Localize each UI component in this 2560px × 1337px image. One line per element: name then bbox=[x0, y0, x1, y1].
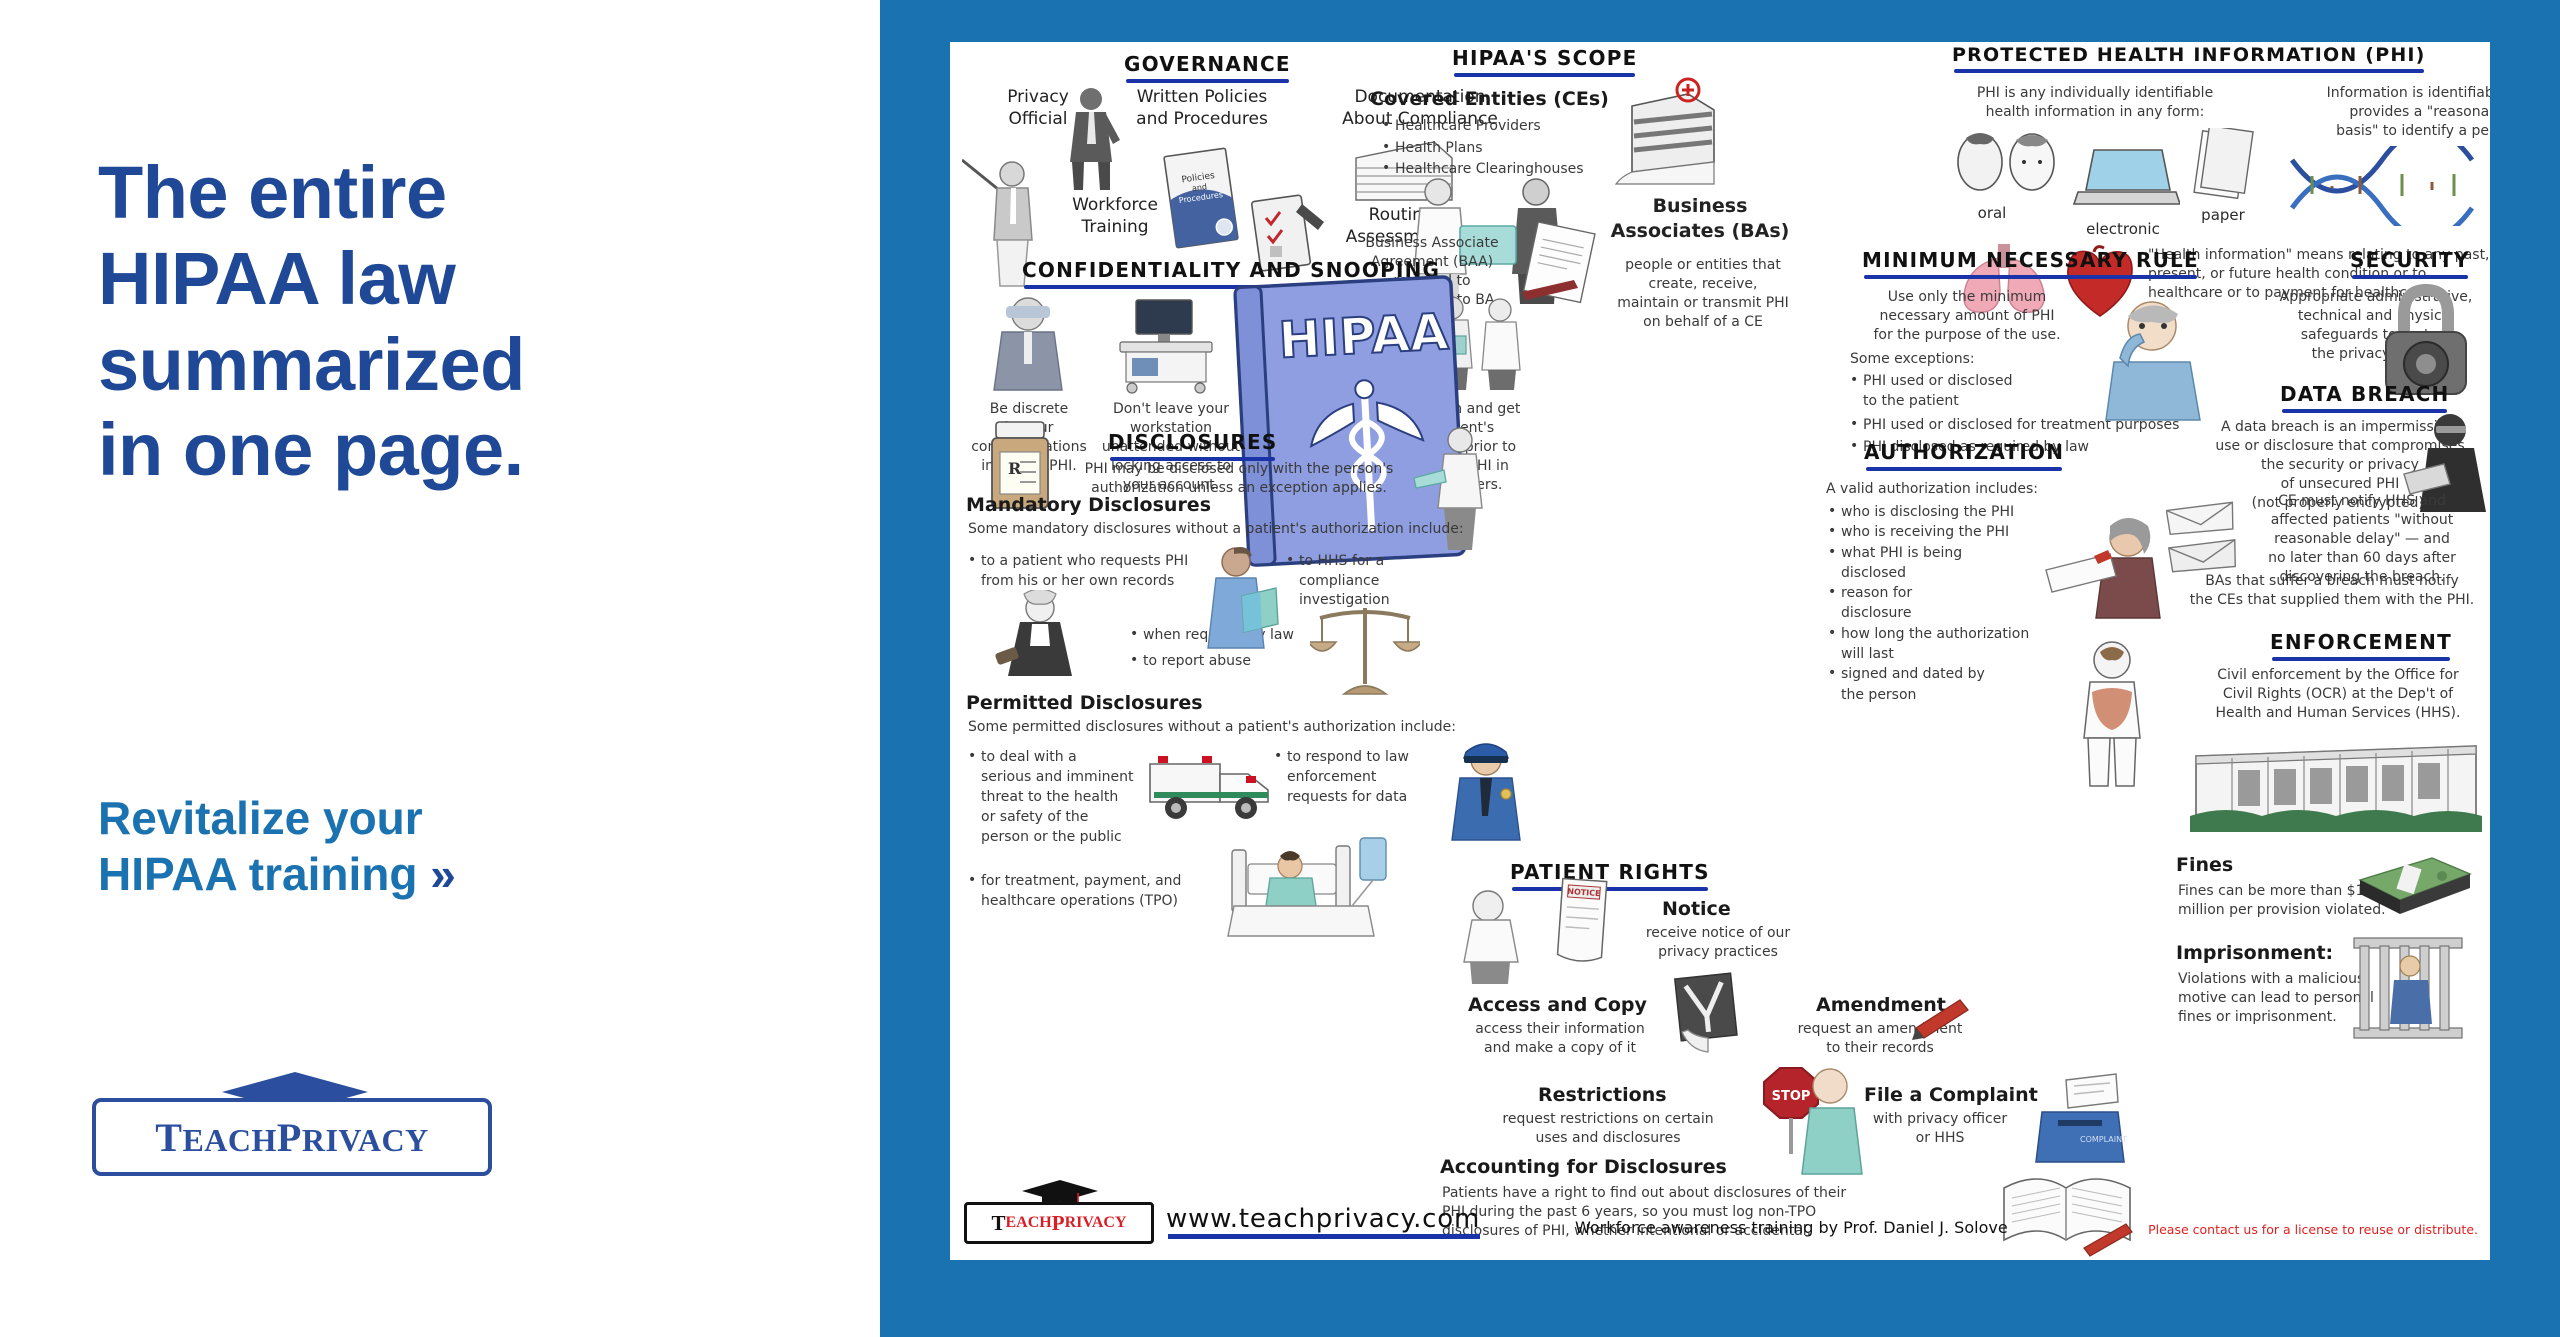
chevron-right-icon: » bbox=[430, 848, 450, 900]
permitted-list-right: to respond to law enforcement requests f… bbox=[1274, 748, 1464, 808]
label-electronic: electronic bbox=[2068, 220, 2178, 240]
list-item: to respond to law enforcement requests f… bbox=[1274, 748, 1464, 808]
headline-emphasis: entire bbox=[248, 151, 447, 234]
money-stack-illustration bbox=[2354, 852, 2474, 924]
body-anatomy-illustration bbox=[2064, 638, 2160, 788]
page-root: The entire HIPAA law summarized in one p… bbox=[0, 0, 2560, 1337]
section-title-hipaa-scope: HIPAA'S SCOPE bbox=[1452, 46, 1637, 74]
patient-with-folder-illustration bbox=[1194, 544, 1284, 650]
footer-website-url[interactable]: www.teachprivacy.com bbox=[1166, 1204, 1480, 1234]
footer-logo-each: EACH bbox=[1006, 1214, 1052, 1232]
stop-sign-text: STOP bbox=[1772, 1089, 1811, 1104]
logo-wordmark: TEACHPRIVACY bbox=[155, 1114, 428, 1161]
data-breach-bas: BAs that suffer a breach must notify the… bbox=[2182, 572, 2482, 610]
teachprivacy-logo[interactable]: TEACHPRIVACY bbox=[92, 1070, 502, 1180]
right-access-copy-desc: access their information and make a copy… bbox=[1450, 1020, 1670, 1058]
ambulance-illustration bbox=[1146, 746, 1278, 822]
section-title-data-breach: DATA BREACH bbox=[2280, 382, 2449, 410]
cta-line-2: HIPAA training bbox=[98, 848, 417, 900]
right-access-copy-name: Access and Copy bbox=[1468, 994, 1647, 1016]
open-ledger-book-illustration bbox=[1998, 1164, 2138, 1258]
section-title-disclosures: DISCLOSURES bbox=[1108, 430, 1277, 458]
envelopes-illustration bbox=[2166, 494, 2256, 584]
police-officer-illustration bbox=[1440, 732, 1532, 842]
phi-intro: PHI is any individually identifiable hea… bbox=[1930, 84, 2260, 122]
list-item: PHI used or disclosed to the patient bbox=[1850, 372, 2080, 411]
svg-text:COMPLAINT: COMPLAINT bbox=[2080, 1135, 2127, 1144]
footer-teachprivacy-logo[interactable]: TEACHPRIVACY bbox=[964, 1202, 1154, 1244]
judge-gavel-illustration bbox=[990, 590, 1090, 678]
section-title-enforcement: ENFORCEMENT bbox=[2270, 630, 2452, 658]
list-item: signed and dated by the person bbox=[1828, 664, 2078, 705]
policies-book-illustration: Policies and Procedures bbox=[1156, 146, 1246, 250]
covered-entities-heading: Covered Entities (CEs) bbox=[1370, 88, 1609, 110]
imprisonment-heading: Imprisonment: bbox=[2176, 942, 2333, 964]
permitted-list-tpo: for treatment, payment, and healthcare o… bbox=[968, 872, 1228, 912]
minimum-necessary-body: Use only the minimum necessary amount of… bbox=[1842, 288, 2092, 345]
right-file-complaint-desc: with privacy officer or HHS bbox=[1840, 1110, 2040, 1148]
faces-oral-illustration bbox=[1950, 128, 2070, 198]
logo-each: EACH bbox=[182, 1122, 276, 1158]
list-item: Health Plans bbox=[1382, 138, 1612, 160]
xray-copy-illustration bbox=[1666, 972, 1746, 1058]
section-title-phi: PROTECTED HEALTH INFORMATION (PHI) bbox=[1952, 44, 2426, 70]
hospital-building-illustration bbox=[1610, 76, 1722, 188]
logo-rivacy: RIVACY bbox=[302, 1122, 429, 1158]
enforcement-body: Civil enforcement by the Office for Civi… bbox=[2188, 666, 2488, 723]
woman-signing-form-illustration bbox=[2036, 512, 2176, 622]
promo-headline: The entire HIPAA law summarized in one p… bbox=[98, 150, 798, 493]
headline-line-4: in one page. bbox=[98, 408, 524, 491]
right-notice-desc: receive notice of our privacy practices bbox=[1618, 924, 1818, 962]
svg-text:HIPAA: HIPAA bbox=[1277, 303, 1450, 370]
label-written-policies: Written Policies and Procedures bbox=[1102, 86, 1302, 130]
section-title-authorization: AUTHORIZATION bbox=[1864, 440, 2064, 468]
footer-logo-p: P bbox=[1052, 1211, 1065, 1236]
notice-document-illustration: NOTICE bbox=[1550, 874, 1614, 966]
discrete-man-illustration bbox=[980, 292, 1076, 392]
hipaa-infographic: GOVERNANCE Privacy Official Written Poli… bbox=[950, 42, 2490, 1260]
permitted-list-left: to deal with a serious and imminent thre… bbox=[968, 748, 1168, 847]
right-notice-name: Notice bbox=[1662, 898, 1731, 920]
logo-wordmark-box: TEACHPRIVACY bbox=[92, 1098, 492, 1176]
hospital-bed-patient-illustration bbox=[1218, 832, 1398, 950]
minimum-necessary-exceptions-heading: Some exceptions: bbox=[1850, 350, 1975, 369]
headline-line-1: The entire bbox=[98, 151, 447, 234]
permitted-disclosures-heading: Permitted Disclosures bbox=[966, 692, 1203, 714]
logo-p: P bbox=[277, 1115, 302, 1160]
list-item: for treatment, payment, and healthcare o… bbox=[968, 872, 1228, 912]
list-item: to a patient who requests PHI from his o… bbox=[968, 552, 1218, 591]
minimum-necessary-exception-1: PHI used or disclosed to the patient bbox=[1850, 372, 2080, 411]
mandatory-disclosures-sub: Some mandatory disclosures without a pat… bbox=[968, 520, 1528, 539]
paper-documents-illustration bbox=[2188, 128, 2258, 204]
workstation-illustration bbox=[1110, 298, 1220, 394]
list-item: how long the authorization will last bbox=[1828, 624, 2078, 665]
jail-cell-illustration bbox=[2348, 932, 2468, 1044]
right-restrictions-desc: request restrictions on certain uses and… bbox=[1468, 1110, 1748, 1148]
pen-signature-illustration bbox=[1910, 992, 1980, 1042]
hhs-building-illustration bbox=[2186, 728, 2486, 842]
label-paper: paper bbox=[2188, 206, 2258, 226]
business-associates-body: people or entities that create, receive,… bbox=[1598, 256, 1808, 332]
scales-of-justice-illustration bbox=[1310, 598, 1420, 708]
contract-and-pen-illustration bbox=[1516, 222, 1610, 306]
section-title-governance: GOVERNANCE bbox=[1124, 52, 1291, 80]
laptop-electronic-illustration bbox=[2072, 146, 2180, 212]
section-title-security: SECURITY bbox=[2350, 248, 2470, 276]
complaint-ballot-box-illustration: COMPLAINT bbox=[2032, 1072, 2132, 1168]
man-reading-notice-illustration bbox=[1458, 886, 1548, 986]
footer-logo-t: T bbox=[991, 1211, 1005, 1236]
right-restrictions-name: Restrictions bbox=[1538, 1084, 1667, 1106]
phi-identifiable-text: Information is identifiable if it provid… bbox=[2280, 84, 2490, 141]
right-file-complaint-name: File a Complaint bbox=[1864, 1084, 2038, 1106]
headline-line-3: summarized bbox=[98, 323, 525, 406]
authorization-intro: A valid authorization includes: bbox=[1826, 480, 2038, 499]
thinking-man-illustration bbox=[2090, 292, 2210, 422]
promo-cta-link[interactable]: Revitalize your HIPAA training » bbox=[98, 790, 798, 902]
mandatory-disclosures-heading: Mandatory Disclosures bbox=[966, 494, 1211, 516]
businessman-illustration bbox=[1058, 84, 1128, 194]
footer-credit: Workforce awareness training by Prof. Da… bbox=[1575, 1218, 2008, 1237]
footer-license-notice: Please contact us for a license to reuse… bbox=[2148, 1222, 2478, 1237]
accounting-disclosures-heading: Accounting for Disclosures bbox=[1440, 1156, 1727, 1178]
mandatory-list-left: to a patient who requests PHI from his o… bbox=[968, 552, 1218, 591]
business-associates-heading: Business Associates (BAs) bbox=[1600, 194, 1800, 243]
label-oral: oral bbox=[1962, 204, 2022, 224]
dna-helix-illustration bbox=[2282, 146, 2482, 226]
fines-heading: Fines bbox=[2176, 854, 2233, 876]
list-item: Healthcare Providers bbox=[1382, 116, 1612, 138]
disclosures-intro: PHI may be disclosed only with the perso… bbox=[1074, 460, 1404, 498]
headline-line-2: HIPAA law bbox=[98, 237, 455, 320]
list-item: to deal with a serious and imminent thre… bbox=[968, 748, 1168, 847]
svg-text:R: R bbox=[1008, 459, 1022, 478]
logo-t: T bbox=[155, 1115, 182, 1160]
section-title-minimum-necessary: MINIMUM NECESSARY RULE bbox=[1862, 248, 2199, 276]
cta-line-1: Revitalize your bbox=[98, 792, 423, 844]
footer-logo-rivacy: RIVACY bbox=[1065, 1214, 1127, 1232]
promo-panel: The entire HIPAA law summarized in one p… bbox=[0, 0, 880, 1337]
